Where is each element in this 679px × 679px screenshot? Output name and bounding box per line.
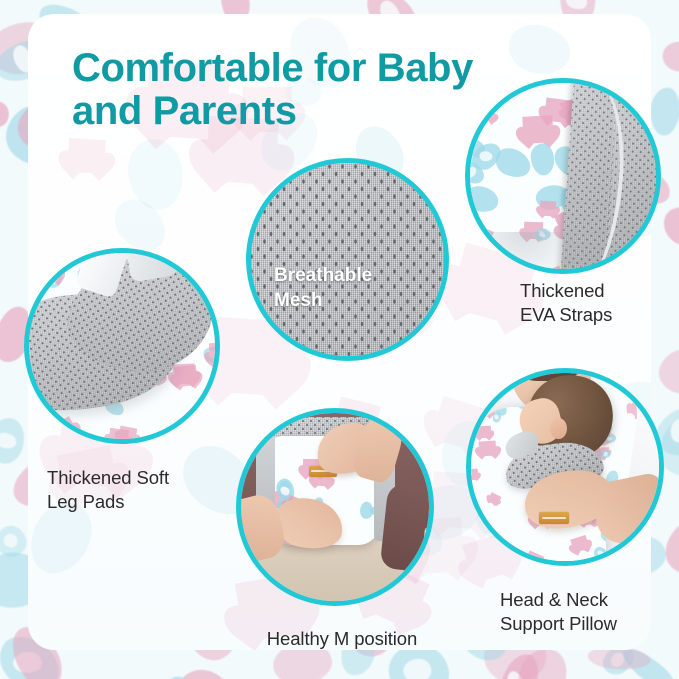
breathable-mesh-circle[interactable]: [246, 158, 449, 361]
parent-sleeve-right: [379, 483, 429, 573]
breathable-mesh-photo: [251, 163, 444, 356]
pattern-heart: [478, 106, 496, 123]
background-blob: [660, 39, 679, 74]
mesh-texture: [251, 163, 444, 356]
pattern-heart: [209, 340, 215, 365]
infographic-canvas: Comfortable for Baby and Parents Breatha…: [0, 0, 679, 679]
head-neck-caption: Head & Neck Support Pillow: [500, 588, 679, 635]
pattern-heart: [471, 469, 478, 480]
pattern-heart: [479, 441, 497, 458]
pattern-heart: [487, 492, 501, 505]
pattern-heart: [108, 427, 129, 439]
pattern-spot: [485, 83, 512, 104]
pattern-heart: [39, 263, 62, 284]
leg-pads-photo: [29, 253, 215, 439]
pattern-heart: [47, 416, 79, 439]
head-neck-circle[interactable]: [466, 368, 664, 566]
m-position-photo: [241, 413, 429, 601]
pattern-spot: [125, 135, 187, 212]
pattern-heart: [477, 425, 491, 438]
brand-tag-head-neck: [539, 512, 569, 524]
pattern-heart: [172, 364, 196, 385]
pattern-heart: [570, 535, 590, 554]
pattern-spot: [470, 183, 501, 215]
pattern-heart: [475, 407, 491, 417]
pattern-heart: [194, 254, 209, 268]
pattern-heart: [524, 550, 544, 561]
eva-straps-caption: Thickened EVA Straps: [520, 279, 679, 326]
m-position-circle[interactable]: [236, 408, 434, 606]
leg-pads-caption: Thickened Soft Leg Pads: [47, 466, 227, 513]
eva-straps-circle[interactable]: [465, 78, 661, 274]
m-position-caption: Healthy M position: [232, 627, 452, 651]
eva-straps-photo: [470, 83, 656, 269]
baby-ear: [550, 418, 567, 439]
pattern-heart: [67, 138, 106, 174]
panel-shadow: [470, 232, 589, 269]
background-blob: [658, 201, 679, 253]
head-neck-photo: [471, 373, 659, 561]
leg-pads-circle[interactable]: [24, 248, 220, 444]
breathable-mesh-label: Breathable Mesh: [274, 263, 444, 313]
